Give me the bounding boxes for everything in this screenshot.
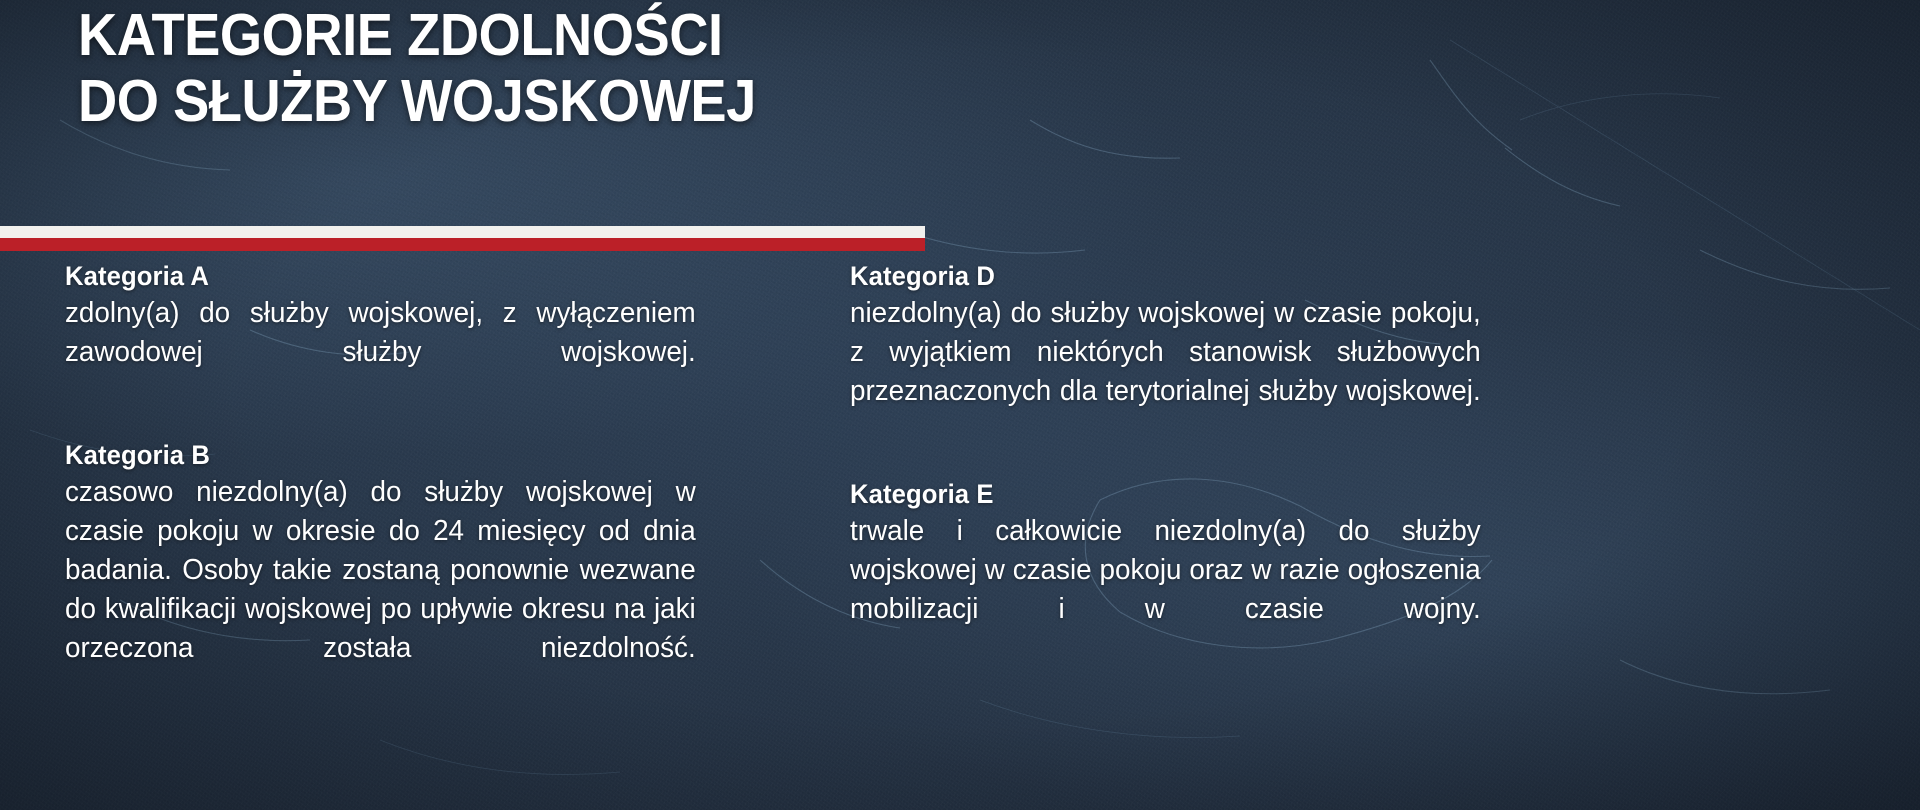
category-block-a: Kategoria A zdolny(a) do służby wojskowe… — [65, 258, 722, 411]
category-d-heading: Kategoria D — [850, 258, 1474, 294]
flag-accent-bar — [0, 226, 925, 251]
category-e-description: trwale i całkowicie niezdolny(a) do służ… — [850, 512, 1481, 668]
title-line-1: KATEGORIE ZDOLNOŚCI — [78, 2, 756, 68]
flag-bar-red-stripe — [0, 238, 925, 251]
category-d-description: niezdolny(a) do służby wojskowej w czasi… — [850, 294, 1481, 450]
title-line-2: DO SŁUŻBY WOJSKOWEJ — [78, 68, 756, 134]
category-b-heading: Kategoria B — [65, 437, 689, 473]
category-a-heading: Kategoria A — [65, 258, 689, 294]
category-block-d: Kategoria D niezdolny(a) do służby wojsk… — [850, 258, 1507, 450]
category-column-right: Kategoria D niezdolny(a) do służby wojsk… — [850, 258, 1507, 694]
category-block-b: Kategoria B czasowo niezdolny(a) do służ… — [65, 437, 722, 707]
poster-title: KATEGORIE ZDOLNOŚCI DO SŁUŻBY WOJSKOWEJ — [78, 2, 815, 134]
category-column-left: Kategoria A zdolny(a) do służby wojskowe… — [65, 258, 722, 733]
category-block-e: Kategoria E trwale i całkowicie niezdoln… — [850, 476, 1507, 668]
flag-bar-white-stripe — [0, 226, 925, 238]
category-e-heading: Kategoria E — [850, 476, 1474, 512]
category-a-description: zdolny(a) do służby wojskowej, z wyłącze… — [65, 294, 696, 411]
category-b-description: czasowo niezdolny(a) do służby wojskowej… — [65, 473, 696, 707]
